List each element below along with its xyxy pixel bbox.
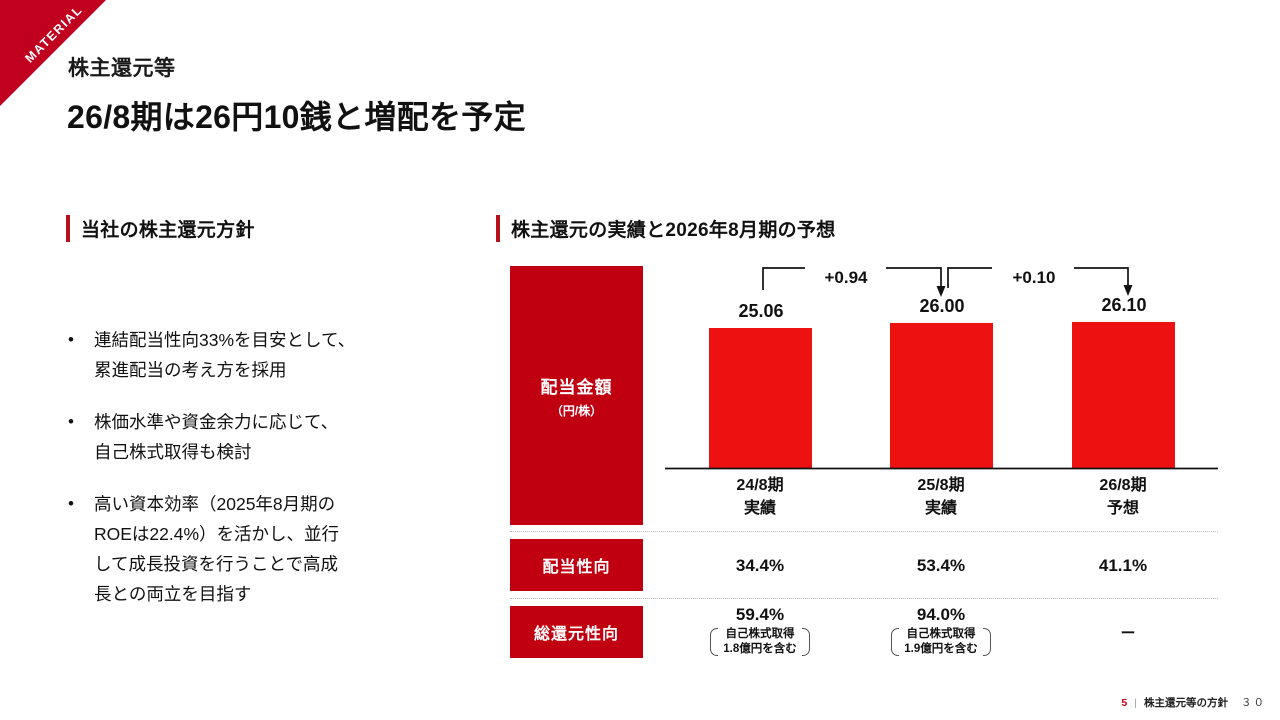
chart-row-label-line2: （円/株） <box>551 402 602 419</box>
right-section-title: 株主還元の実績と2026年8月期の予想 <box>511 215 836 242</box>
note-line: 1.8億円を含む <box>723 643 797 655</box>
list-item: • 連結配当性向33%を目安として、 累進配当の考え方を採用 <box>68 325 448 385</box>
bullet-text: 高い資本効率（2025年8月期の ROEは22.4%）を活かし、並行 して成長投… <box>94 489 339 609</box>
policy-bullet-list: • 連結配当性向33%を目安として、 累進配当の考え方を採用 • 株価水準や資金… <box>68 325 448 631</box>
x-axis-label-line: 26/8期 <box>1043 474 1203 497</box>
note-line: 自己株式取得 <box>726 628 795 640</box>
x-axis-label-line: 25/8期 <box>861 474 1021 497</box>
note-line: 自己株式取得 <box>907 628 976 640</box>
payout-ratio-value-0: 34.4% <box>680 556 840 576</box>
bullet-line: 累進配当の考え方を採用 <box>94 360 287 380</box>
bullet-dot-icon: • <box>68 489 94 609</box>
row-label-total-return-ratio: 総還元性向 <box>510 606 643 658</box>
note-bracket-0: 自己株式取得 1.8億円を含む <box>710 627 810 657</box>
footer-title: 株主還元等の方針 <box>1144 695 1228 710</box>
total-return-note-1: 自己株式取得 1.9億円を含む <box>851 627 1031 657</box>
bar-value-1: 26.00 <box>872 296 1012 317</box>
left-section-header: 当社の株主還元方針 <box>66 215 255 242</box>
bullet-line: 高い資本効率（2025年8月期の <box>94 494 335 514</box>
x-axis-label-line: 実績 <box>861 497 1021 520</box>
footer: 5 | 株主還元等の方針 ３０ <box>1121 695 1266 710</box>
payout-ratio-value-2: 41.1% <box>1043 556 1203 576</box>
bullet-line: ROEは22.4%）を活かし、並行 <box>94 524 339 544</box>
total-return-note-0: 自己株式取得 1.8億円を含む <box>670 627 850 657</box>
bullet-dot-icon: • <box>68 407 94 467</box>
left-section-title: 当社の株主還元方針 <box>81 215 255 242</box>
accent-bar-icon <box>66 215 70 242</box>
list-item: • 株価水準や資金余力に応じて、 自己株式取得も検討 <box>68 407 448 467</box>
bullet-line: 長との両立を目指す <box>94 584 251 604</box>
chart-row-label: 配当金額 （円/株） <box>510 266 643 525</box>
bullet-line: 自己株式取得も検討 <box>94 442 252 462</box>
bar-1 <box>890 323 993 468</box>
x-axis-label-line: 予想 <box>1043 497 1203 520</box>
accent-bar-icon <box>496 215 500 242</box>
slide-kicker: 株主還元等 <box>68 52 176 82</box>
bullet-text: 株価水準や資金余力に応じて、 自己株式取得も検討 <box>94 407 338 467</box>
total-return-value-2: ー <box>1088 622 1168 643</box>
x-axis-label-2: 26/8期 予想 <box>1043 474 1203 520</box>
chart-row-label-line1: 配当金額 <box>541 373 613 398</box>
note-bracket-1: 自己株式取得 1.9億円を含む <box>891 627 991 657</box>
bar-value-2: 26.10 <box>1054 295 1194 316</box>
footer-separator: | <box>1134 697 1137 709</box>
x-axis-label-1: 25/8期 実績 <box>861 474 1021 520</box>
right-section-header: 株主還元の実績と2026年8月期の予想 <box>496 215 836 242</box>
row-divider-1 <box>510 531 1218 532</box>
x-axis-label-0: 24/8期 実績 <box>680 474 840 520</box>
payout-ratio-value-1: 53.4% <box>861 556 1021 576</box>
footer-page-number: ３０ <box>1241 695 1266 710</box>
bar-2 <box>1072 322 1175 468</box>
row-label-payout-ratio: 配当性向 <box>510 539 643 591</box>
bullet-dot-icon: • <box>68 325 94 385</box>
slide-headline: 26/8期は26円10銭と増配を予定 <box>67 92 526 138</box>
bullet-line: して成長投資を行うことで高成 <box>94 554 338 574</box>
row-divider-2 <box>510 598 1218 599</box>
bullet-line: 連結配当性向33%を目安として、 <box>94 330 355 350</box>
total-return-value-1: 94.0% <box>861 605 1021 625</box>
note-line: 1.9億円を含む <box>904 643 978 655</box>
delta-annotation-0: +0.94 <box>801 268 891 288</box>
x-axis-label-line: 実績 <box>680 497 840 520</box>
bar-0 <box>709 328 812 468</box>
bullet-line: 株価水準や資金余力に応じて、 <box>94 412 338 432</box>
total-return-value-0: 59.4% <box>680 605 840 625</box>
list-item: • 高い資本効率（2025年8月期の ROEは22.4%）を活かし、並行 して成… <box>68 489 448 609</box>
x-axis-label-line: 24/8期 <box>680 474 840 497</box>
bar-value-0: 25.06 <box>691 301 831 322</box>
footer-section-number: 5 <box>1121 697 1127 709</box>
delta-annotation-1: +0.10 <box>989 268 1079 288</box>
bullet-text: 連結配当性向33%を目安として、 累進配当の考え方を採用 <box>94 325 355 385</box>
